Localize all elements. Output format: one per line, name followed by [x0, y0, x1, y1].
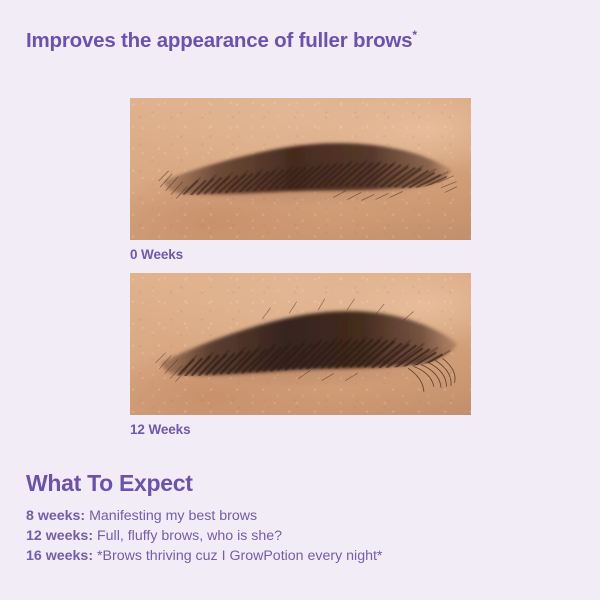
list-item: 16 weeks: *Brows thriving cuz I GrowPoti… — [26, 546, 571, 566]
what-to-expect-title: What To Expect — [26, 470, 571, 497]
week-label: 8 weeks: — [26, 508, 85, 524]
eyebrow-photo-after — [130, 273, 471, 415]
week-label: 12 weeks: — [26, 528, 93, 544]
list-item: 8 weeks: Manifesting my best brows — [26, 506, 571, 526]
week-description: *Brows thriving cuz I GrowPotion every n… — [93, 548, 382, 564]
page-title: Improves the appearance of fuller brows* — [26, 28, 417, 53]
photo-label-after: 12 Weeks — [130, 422, 471, 437]
week-description: Manifesting my best brows — [85, 508, 257, 524]
photo-label-before: 0 Weeks — [130, 247, 471, 262]
list-item: 12 weeks: Full, fluffy brows, who is she… — [26, 526, 571, 546]
before-photo-block: 0 Weeks — [130, 98, 471, 262]
what-to-expect-section: What To Expect 8 weeks: Manifesting my b… — [26, 470, 571, 566]
eyebrow-hair-after — [154, 293, 461, 392]
footnote-asterisk: * — [412, 28, 416, 42]
page-title-text: Improves the appearance of fuller brows — [26, 29, 412, 52]
expectation-list: 8 weeks: Manifesting my best brows 12 we… — [26, 506, 571, 566]
eyebrow-hair-before — [157, 126, 457, 214]
eyebrow-photo-before — [130, 98, 471, 240]
week-label: 16 weeks: — [26, 548, 93, 564]
after-photo-block: 12 Weeks — [130, 273, 471, 437]
week-description: Full, fluffy brows, who is she? — [93, 528, 282, 544]
